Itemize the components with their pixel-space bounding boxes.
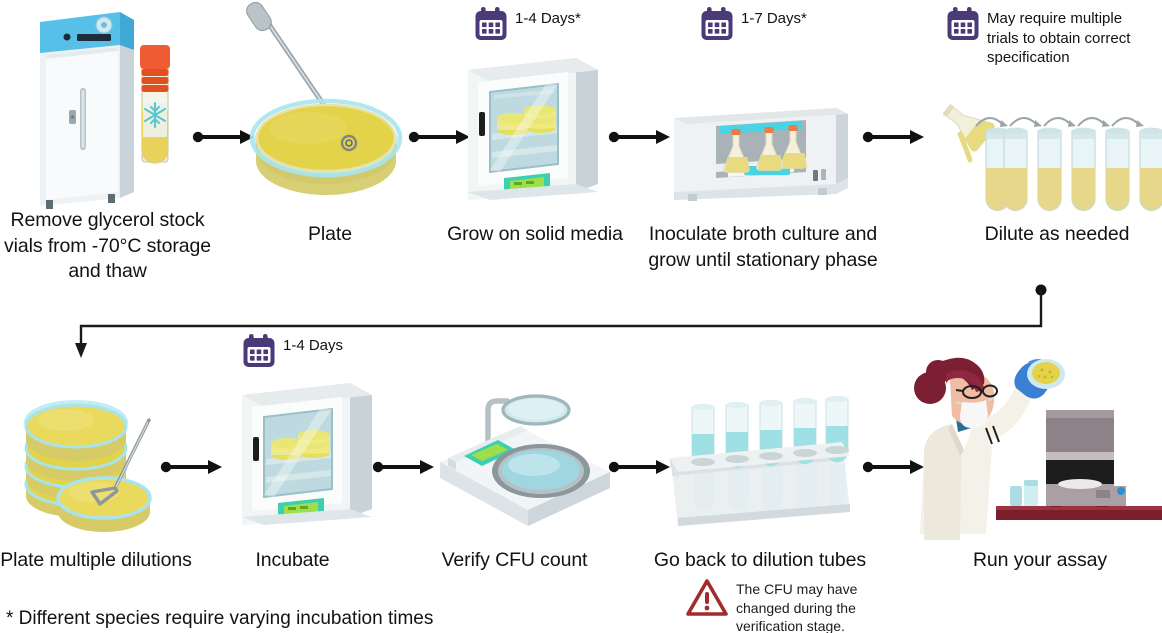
- caption-remove-glycerol-stock: Remove glycerol stock vials from -70°C s…: [0, 208, 215, 285]
- arrow-plate-dilutions-to-incubate: [160, 458, 224, 476]
- scientist-with-instrument-icon: [900, 358, 1162, 534]
- arrow-grow-to-broth: [608, 128, 672, 146]
- badge-grow-on-solid-media: 1-4 Days*: [474, 6, 581, 42]
- caption-dilute-as-needed: Dilute as needed: [952, 222, 1162, 248]
- petri-dish-with-loop-icon: [248, 2, 408, 197]
- arrow-freezer-to-plate: [192, 128, 256, 146]
- arrow-broth-to-dilute: [862, 128, 926, 146]
- calendar-icon: [242, 333, 276, 369]
- footnote-incubation-times: * Different species require varying incu…: [6, 608, 433, 630]
- caption-inoculate-broth: Inoculate broth culture and grow until s…: [648, 222, 878, 273]
- colony-counter-icon: [424, 388, 620, 528]
- caption-run-your-assay: Run your assay: [940, 548, 1140, 574]
- incubator-icon: [232, 377, 384, 527]
- incubator-icon: [458, 52, 610, 202]
- badge-inoculate-broth: 1-7 Days*: [700, 6, 807, 42]
- stacked-plates-with-spreader-icon: [14, 392, 174, 532]
- cfu-warning-note: The CFU may have changed during the veri…: [686, 578, 886, 633]
- workflow-diagram: Remove glycerol stock vials from -70°C s…: [0, 0, 1162, 633]
- cfu-warning-text: The CFU may have changed during the veri…: [736, 578, 857, 633]
- caption-incubate: Incubate: [215, 548, 370, 574]
- badge-dilute-as-needed-text: May require multiple trials to obtain co…: [987, 6, 1130, 68]
- calendar-icon: [946, 6, 980, 42]
- arrow-verify-to-go-back: [608, 458, 672, 476]
- calendar-icon: [700, 6, 734, 42]
- arrow-row1-to-row2-connector: [55, 285, 1065, 360]
- caption-plate: Plate: [255, 222, 405, 248]
- caption-verify-cfu-count: Verify CFU count: [432, 548, 597, 574]
- test-tube-rack-icon: [666, 392, 856, 532]
- shaking-incubator-icon: [666, 96, 856, 204]
- caption-go-back-to-dilution-tubes: Go back to dilution tubes: [630, 548, 890, 574]
- warning-triangle-icon: [686, 578, 728, 618]
- freezer-with-cryovial-icon: [22, 10, 212, 210]
- serial-dilution-tubes-icon: [936, 98, 1162, 210]
- badge-grow-on-solid-media-text: 1-4 Days*: [515, 6, 581, 29]
- badge-inoculate-broth-text: 1-7 Days*: [741, 6, 807, 29]
- badge-incubate: 1-4 Days: [242, 333, 343, 369]
- badge-dilute-as-needed: May require multiple trials to obtain co…: [946, 6, 1160, 68]
- caption-grow-on-solid-media: Grow on solid media: [430, 222, 640, 248]
- calendar-icon: [474, 6, 508, 42]
- caption-plate-multiple-dilutions: Plate multiple dilutions: [0, 548, 192, 574]
- badge-incubate-text: 1-4 Days: [283, 333, 343, 356]
